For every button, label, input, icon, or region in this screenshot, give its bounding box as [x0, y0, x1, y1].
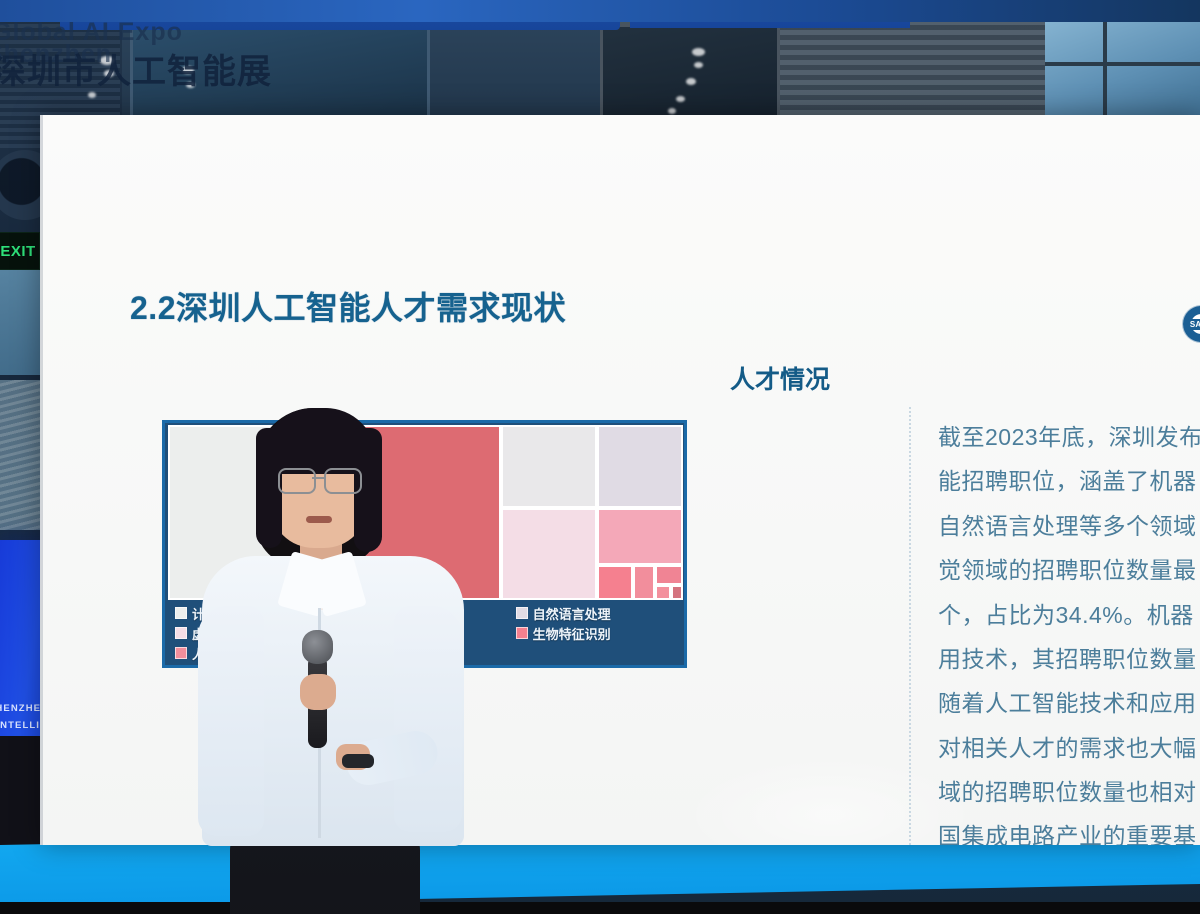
treemap-tile-biometrics — [597, 565, 633, 600]
body-paragraph: 截至2023年底，深圳发布 能招聘职位，涵盖了机器 自然语言处理等多个领域 觉领… — [938, 415, 1200, 845]
background-text-cn: 深圳市人工智能展 — [0, 44, 272, 93]
stage-floor-edge — [0, 902, 1200, 914]
legend-swatch-icon — [175, 627, 187, 639]
treemap-tile-hci — [633, 565, 655, 600]
treemap-tile-other-lower-a — [655, 585, 671, 600]
page-title: 2.2深圳人工智能人才需求现状 — [130, 283, 566, 329]
presenter-arm-left — [198, 606, 264, 836]
glare-dot — [692, 48, 705, 56]
legend-label: 生物特征识别 — [533, 624, 611, 643]
microphone-head-icon — [302, 630, 333, 664]
screenshot-stage: EXIT Gate 4.5m Global AI Expo Shenzhen 深… — [0, 0, 1200, 914]
legend-item-biometrics: 生物特征识别 — [516, 623, 680, 643]
treemap-tile-other-lower-b — [671, 585, 683, 600]
presenter-arm-right — [394, 606, 462, 832]
paragraph-line: 国集成电路产业的重要基 — [938, 814, 1200, 845]
glare-dot — [694, 62, 703, 68]
treemap-tile-knowledge-graph — [597, 508, 683, 565]
paragraph-line: 觉领域的招聘职位数量最 — [938, 548, 1200, 592]
treemap-tile-vr-ar — [501, 508, 597, 600]
saiia-logo-label: SAIIA — [1188, 319, 1200, 330]
presentation-clicker-icon — [342, 754, 374, 768]
treemap-tile-ai-chip — [501, 425, 597, 508]
eyeglasses-left-lens-icon — [278, 468, 316, 494]
legend-swatch-icon — [175, 607, 187, 619]
exit-sign: EXIT — [0, 232, 40, 270]
section-heading: 人才情况 — [730, 360, 830, 396]
projector-glow — [680, 755, 980, 845]
paragraph-line: 截至2023年底，深圳发布 — [938, 415, 1200, 459]
eyeglasses-right-lens-icon — [324, 468, 362, 494]
paragraph-line: 域的招聘职位数量也相对 — [938, 770, 1200, 814]
eyeglasses-bridge-icon — [312, 477, 324, 479]
legend-swatch-icon — [516, 627, 528, 639]
paragraph-line: 对相关人才的需求也大幅 — [938, 726, 1200, 770]
treemap-tile-other-upper — [655, 565, 683, 585]
slide-left-edge — [40, 115, 43, 845]
legend-item-nlp: 自然语言处理 — [516, 603, 680, 623]
exit-sign-label: EXIT — [0, 243, 35, 260]
paragraph-line: 个，占比为34.4%。机器 — [938, 593, 1200, 637]
vertical-dotted-divider — [909, 407, 911, 845]
paragraph-line: 能招聘职位，涵盖了机器 — [938, 459, 1200, 503]
glare-dot — [676, 96, 685, 102]
legend-swatch-icon — [516, 607, 528, 619]
saiia-logo-icon: SAIIA — [1183, 306, 1200, 342]
paragraph-line: 随着人工智能技术和应用 — [938, 681, 1200, 725]
treemap-tile-nlp — [597, 425, 683, 508]
glare-dot — [686, 78, 696, 85]
legend-label: 自然语言处理 — [533, 604, 611, 623]
legend-item-empty — [516, 643, 680, 663]
presenter-mouth — [306, 516, 332, 523]
paragraph-line: 用技术，其招聘职位数量 — [938, 637, 1200, 681]
glare-dot — [668, 108, 676, 114]
presenter-figure — [196, 406, 466, 914]
venue-dark-glass-panel — [600, 24, 780, 118]
legend-swatch-icon — [175, 647, 187, 659]
paragraph-line: 自然语言处理等多个领域 — [938, 504, 1200, 548]
presenter-hand-left — [300, 674, 336, 710]
